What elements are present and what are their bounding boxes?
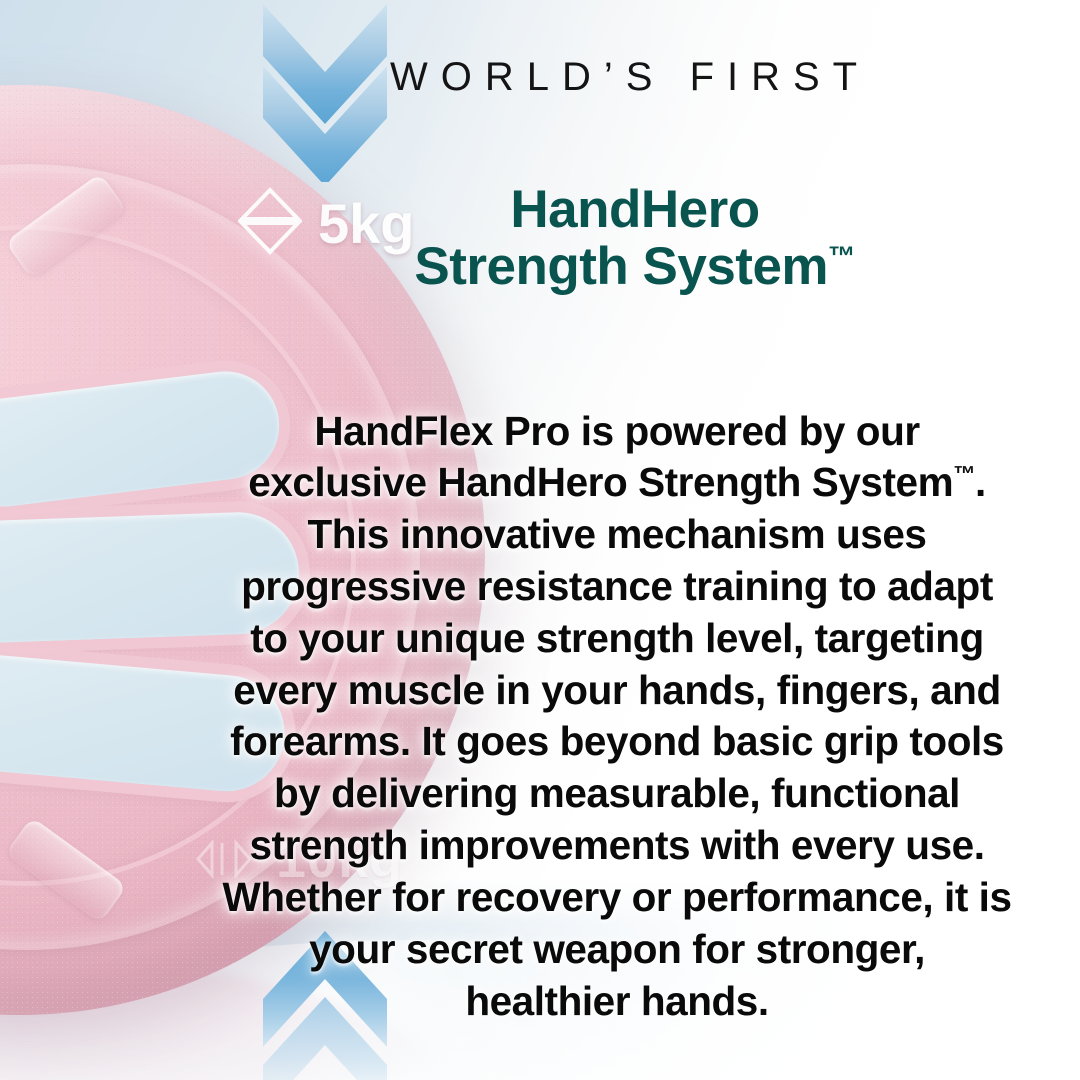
headline-line-2: Strength System bbox=[414, 237, 828, 296]
eyebrow-text: WORLD’S FIRST bbox=[390, 55, 860, 100]
headline-line-1: HandHero bbox=[510, 180, 759, 239]
page-title: HandHero Strength System™ bbox=[330, 182, 940, 295]
product-promo-poster: 5kg 10kg bbox=[0, 0, 1080, 1080]
body-description: HandFlex Pro is powered by our exclusive… bbox=[222, 406, 1012, 1028]
trademark-symbol: ™ bbox=[828, 240, 856, 271]
double-chevron-down-icon bbox=[263, 0, 387, 182]
body-trademark-symbol: ™ bbox=[953, 462, 975, 487]
body-text-part-2: . This innovative mechanism uses progres… bbox=[222, 459, 1011, 1023]
body-text-part-1: HandFlex Pro is powered by our exclusive… bbox=[248, 408, 953, 506]
